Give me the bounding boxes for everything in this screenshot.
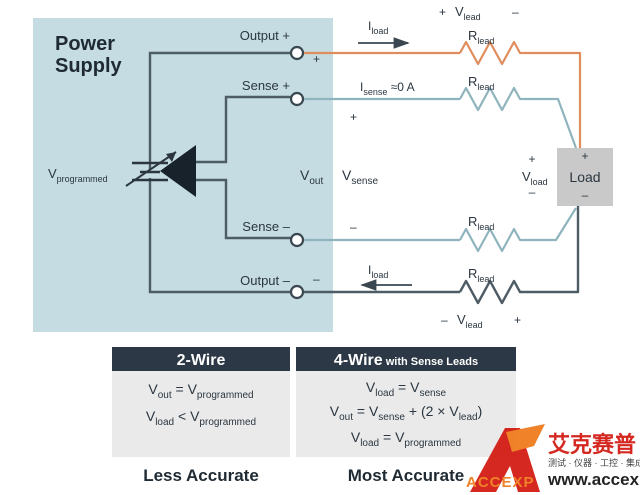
sense-positive-resistor-and-wire xyxy=(460,88,576,148)
v-load-polarity-top: + xyxy=(528,152,535,166)
terminal-node-sense-positive[interactable] xyxy=(291,93,303,105)
v-sense-plus-mark: + xyxy=(350,110,357,124)
load-block-label: Load xyxy=(569,169,600,185)
i-load-top-label: Iload xyxy=(368,19,388,36)
r-lead-label-bottom: Rlead xyxy=(468,266,494,284)
table-body-two-wire xyxy=(112,371,290,457)
v-lead-bottom-polarity-left: – xyxy=(441,313,448,327)
v-lead-bottom-polarity-right: + xyxy=(514,313,521,327)
terminal-label-sense-positive: Sense + xyxy=(242,78,290,93)
v-sense-minus-mark: – xyxy=(350,220,357,234)
power-supply-title-line2: Supply xyxy=(55,55,123,77)
v-out-minus-mark: – xyxy=(313,272,320,286)
v-lead-top-polarity-right: – xyxy=(512,5,519,19)
load-polarity-top: + xyxy=(581,149,588,163)
watermark-brand-cn: 艾克赛普 xyxy=(548,432,636,457)
table-caption-four-wire: Most Accurate xyxy=(348,466,465,485)
table-header-two-wire-label: 2-Wire xyxy=(177,352,226,369)
v-lead-top-polarity-left: + xyxy=(439,5,446,19)
four-wire-sensing-diagram: Power Supply Vprogrammed Output + Sense … xyxy=(0,0,640,495)
terminal-label-sense-negative: Sense – xyxy=(242,219,290,234)
v-lead-top-label: Vlead xyxy=(455,4,481,22)
v-load-polarity-bottom: – xyxy=(529,185,536,199)
watermark-logo-word: ACCEXP xyxy=(466,474,535,491)
v-out-plus-mark: + xyxy=(313,52,320,66)
watermark-url: www.accexp.net xyxy=(547,470,640,489)
terminal-node-output-positive[interactable] xyxy=(291,47,303,59)
power-supply-title-line1: Power xyxy=(55,33,115,55)
r-lead-label-top: Rlead xyxy=(468,28,494,46)
i-sense-label: Isense ≈0 A xyxy=(360,80,415,97)
load-polarity-bottom: – xyxy=(582,188,589,202)
r-lead-label-sense-positive: Rlead xyxy=(468,74,494,92)
terminal-label-output-positive: Output + xyxy=(240,28,290,43)
r-lead-label-sense-negative: Rlead xyxy=(468,214,494,232)
watermark-tagline-cn: 测试 · 仪器 · 工控 · 集成 xyxy=(548,457,640,468)
i-load-bottom-label: Iload xyxy=(368,263,388,280)
table-caption-two-wire: Less Accurate xyxy=(143,466,259,485)
terminal-node-output-negative[interactable] xyxy=(291,286,303,298)
v-sense-label: Vsense xyxy=(342,167,378,187)
output-negative-resistor-and-wire xyxy=(460,205,578,303)
terminal-node-sense-negative[interactable] xyxy=(291,234,303,246)
terminal-label-output-negative: Output – xyxy=(240,273,291,288)
v-lead-bottom-label: Vlead xyxy=(457,312,483,330)
diagram-canvas: Power Supply Vprogrammed Output + Sense … xyxy=(0,0,640,495)
lead-resistor-top-and-wire xyxy=(460,42,580,150)
